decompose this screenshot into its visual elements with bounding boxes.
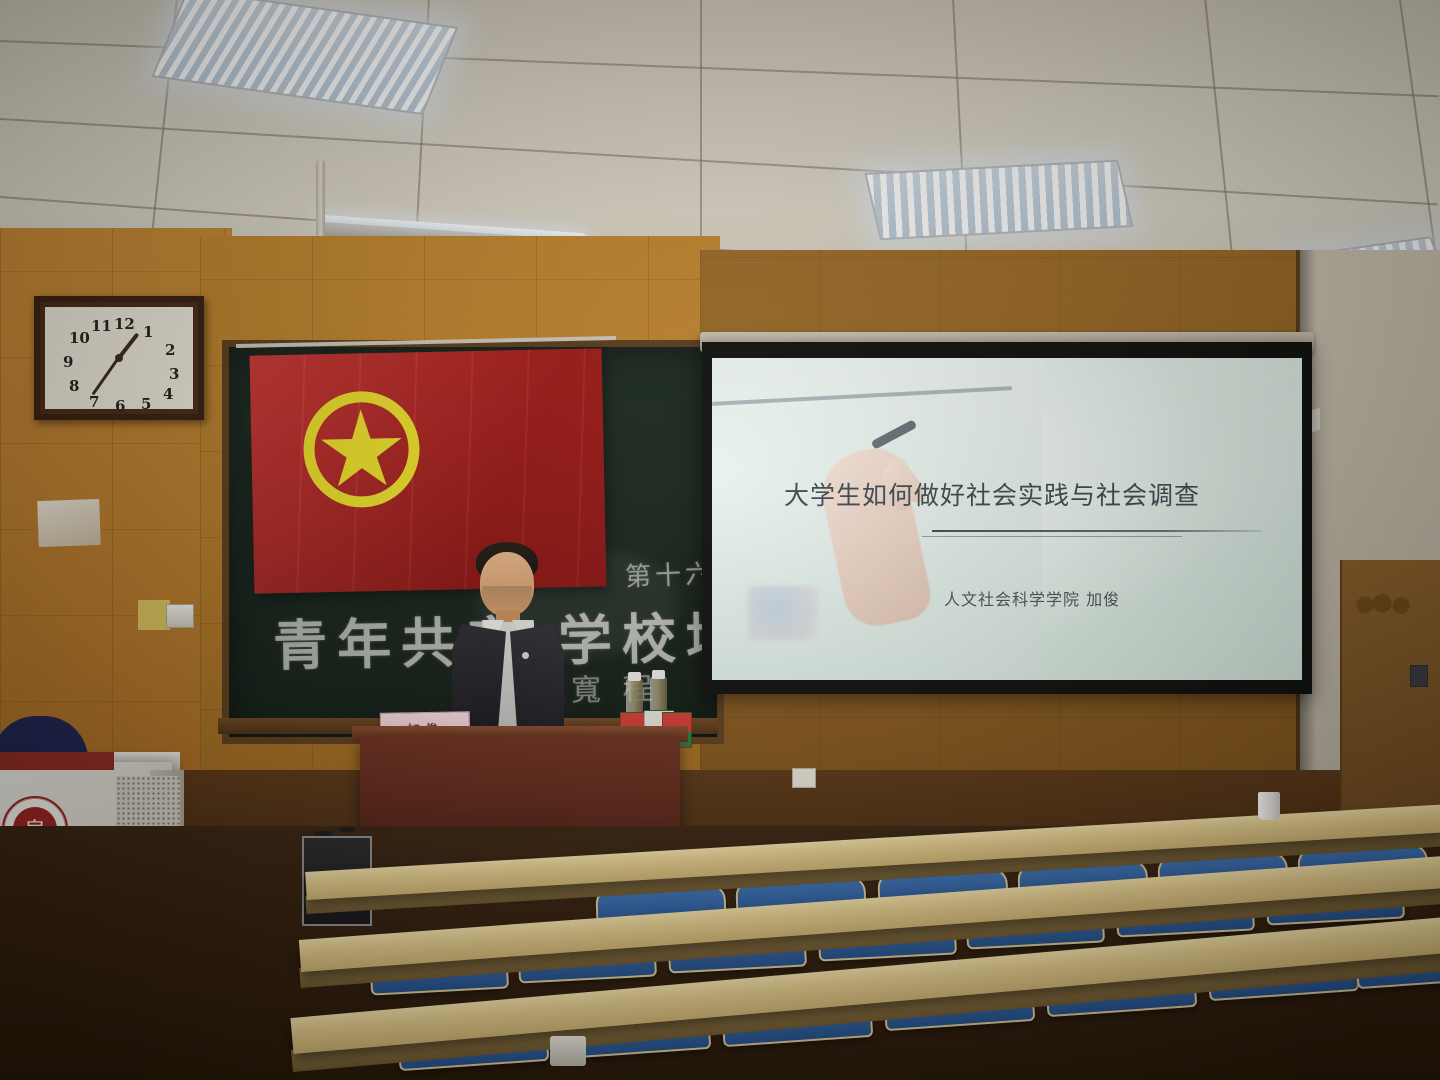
wall-switch-icon[interactable] <box>1410 665 1428 687</box>
clock-number: 3 <box>169 365 179 383</box>
slide-divider-secondary <box>922 536 1182 537</box>
clock-number: 8 <box>69 377 79 395</box>
paper-cup <box>1258 792 1280 820</box>
wall-outlet[interactable] <box>792 768 816 788</box>
bottle-cap <box>652 670 665 679</box>
projection-screen: 大学生如何做好社会实践与社会调查 人文社会科学学院 加俊 <box>712 358 1302 680</box>
wall-switch-plate[interactable] <box>166 604 194 628</box>
wall-notice-left <box>37 499 101 547</box>
clock-center-pin <box>115 354 123 362</box>
slide-subtitle: 人文社会科学学院 加俊 <box>944 586 1120 610</box>
clock-number: 9 <box>63 353 73 371</box>
wall-clock: 12 1 2 3 4 5 6 7 8 9 10 11 <box>34 296 204 420</box>
metal-can <box>550 1036 586 1066</box>
slide-title: 大学生如何做好社会实践与社会调查 <box>784 476 1302 512</box>
clock-number: 1 <box>143 323 153 341</box>
podium-red-band <box>0 752 114 770</box>
lapel-pin-icon <box>522 652 529 659</box>
lecture-hall-photo: 12 1 2 3 4 5 6 7 8 9 10 11 青年共产 学校培训 機寬 … <box>0 0 1440 1080</box>
door-decoration <box>1352 588 1424 622</box>
bottle-cap <box>628 672 641 681</box>
projection-screen-frame: 大学生如何做好社会实践与社会调查 人文社会科学学院 加俊 <box>702 342 1312 694</box>
clock-minute-hand <box>92 358 120 396</box>
slide-background-photo <box>712 358 1042 680</box>
slide-divider <box>932 530 1262 532</box>
clock-number: 4 <box>163 385 173 403</box>
star-in-circle-icon <box>302 390 420 508</box>
clock-number: 11 <box>91 317 112 335</box>
clock-number: 2 <box>165 341 175 359</box>
ceiling-light-fixture <box>864 160 1133 241</box>
clock-number: 5 <box>141 395 151 413</box>
clock-face: 12 1 2 3 4 5 6 7 8 9 10 11 <box>45 307 193 409</box>
clock-number: 6 <box>115 397 125 415</box>
clock-number: 7 <box>89 393 99 411</box>
clock-number: 10 <box>69 329 90 347</box>
hand-illustration <box>815 443 936 632</box>
clock-number: 12 <box>114 315 135 333</box>
pen-illustration <box>871 419 918 449</box>
